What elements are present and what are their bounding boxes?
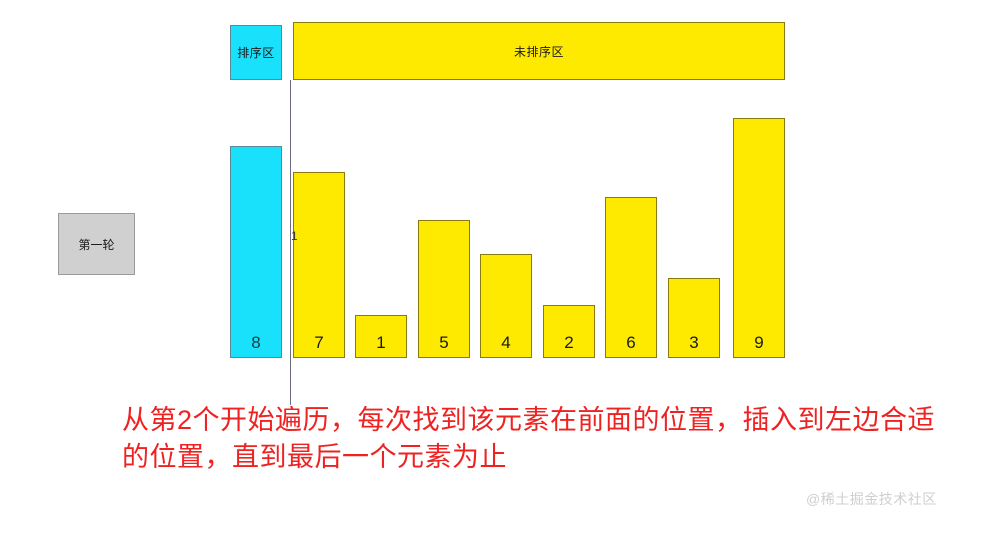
bar-7: 7 xyxy=(293,172,345,358)
bar-value-label: 8 xyxy=(251,333,260,353)
bar-9: 9 xyxy=(733,118,785,358)
bar-value-label: 5 xyxy=(439,333,448,353)
bar-value-label: 7 xyxy=(314,333,323,353)
bar-3: 3 xyxy=(668,278,720,358)
bar-5: 5 xyxy=(418,220,470,358)
bar-value-label: 6 xyxy=(626,333,635,353)
bar-value-label: 2 xyxy=(564,333,573,353)
insertion-sort-diagram: 排序区 未排序区 第一轮 871542639 1 从第2个开始遍历，每次找到该元… xyxy=(0,0,986,533)
watermark: @稀土掘金技术社区 xyxy=(806,489,937,509)
bar-value-label: 3 xyxy=(689,333,698,353)
bar-4: 4 xyxy=(480,254,532,358)
bar-value-label: 9 xyxy=(754,333,763,353)
annotation-text: 从第2个开始遍历，每次找到该元素在前面的位置，插入到左边合适的位置，直到最后一个… xyxy=(122,402,952,477)
bar-value-label: 4 xyxy=(501,333,510,353)
bar-8: 8 xyxy=(230,146,282,358)
bar-1: 1 xyxy=(355,315,407,358)
marker-digit: 1 xyxy=(291,230,298,242)
bar-value-label: 1 xyxy=(376,333,385,353)
bar-2: 2 xyxy=(543,305,595,358)
bar-6: 6 xyxy=(605,197,657,358)
